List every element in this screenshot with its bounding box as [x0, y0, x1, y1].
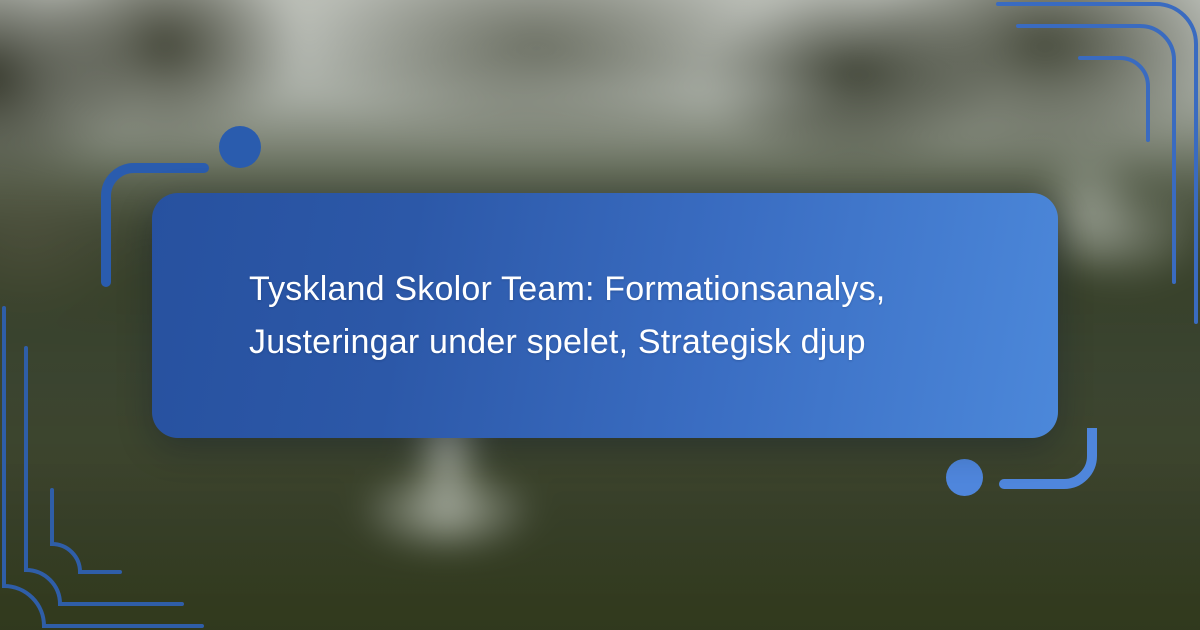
top-left-dot-icon	[219, 126, 261, 168]
title-card: Tyskland Skolor Team: Formationsanalys, …	[152, 193, 1058, 438]
page-title: Tyskland Skolor Team: Formationsanalys, …	[152, 263, 1058, 369]
bottom-right-dot-icon	[946, 459, 983, 496]
share-card-canvas: Tyskland Skolor Team: Formationsanalys, …	[0, 0, 1200, 630]
bottom-right-elbow-icon	[996, 428, 1116, 538]
